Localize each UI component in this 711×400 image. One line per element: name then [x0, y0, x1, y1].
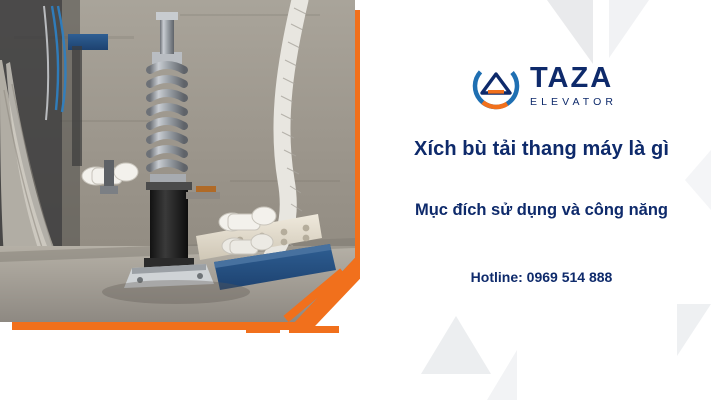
banner-content: TAZA ELEVATOR Xích bù tải thang máy là g… — [372, 0, 711, 400]
hotline-text: Hotline: 0969 514 888 — [372, 269, 711, 285]
taza-circle-logo-icon — [472, 62, 520, 110]
page-title: Xích bù tải thang máy là gì — [372, 138, 711, 161]
photo-illustration — [0, 0, 355, 322]
brand-logo: TAZA ELEVATOR — [472, 62, 617, 110]
brand-wordmark: TAZA ELEVATOR — [530, 64, 617, 108]
page-subtitle: Mục đích sử dụng và công năng — [366, 201, 711, 220]
banner-root: TAZA ELEVATOR Xích bù tải thang máy là g… — [0, 0, 711, 400]
orange-accent-stripe — [289, 326, 339, 333]
orange-accent-stripe — [246, 326, 280, 333]
elevator-machine-photo — [0, 0, 355, 322]
brand-tagline: ELEVATOR — [530, 97, 617, 108]
brand-name: TAZA — [530, 64, 617, 93]
